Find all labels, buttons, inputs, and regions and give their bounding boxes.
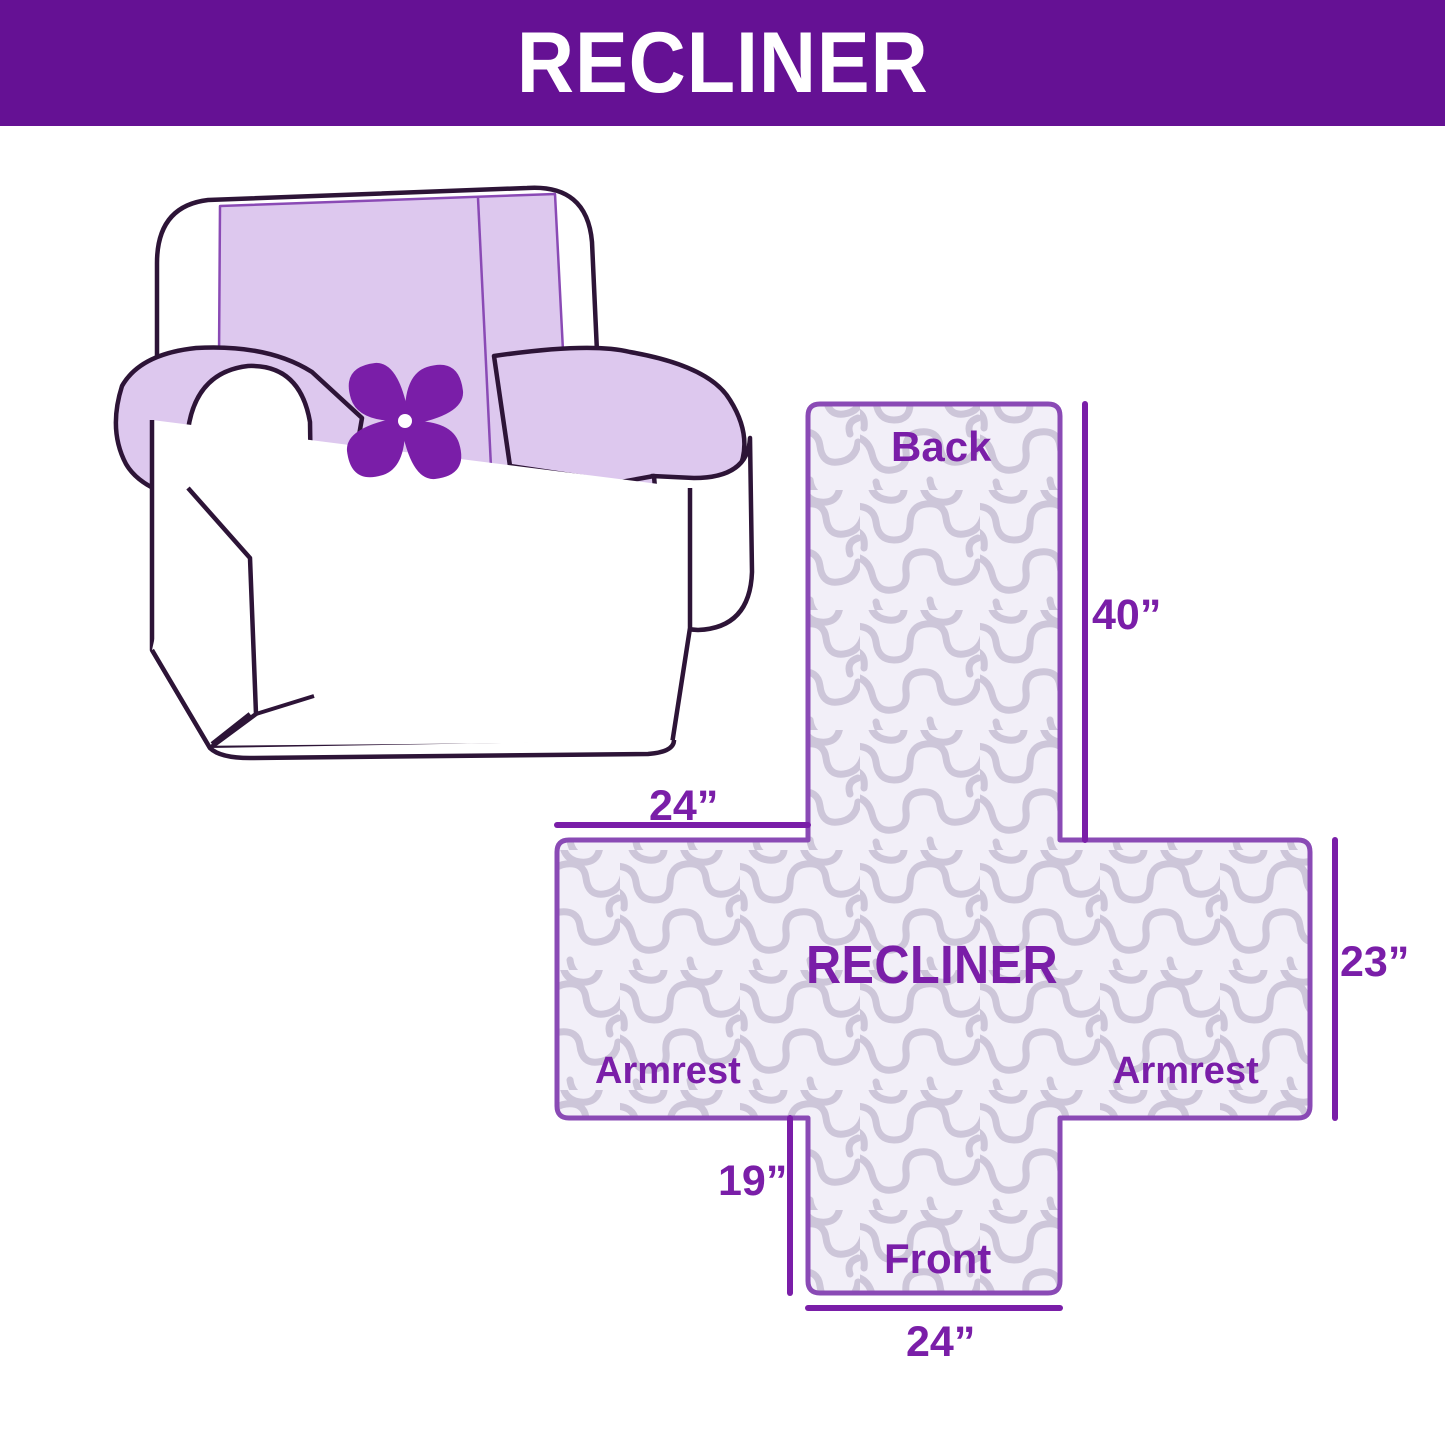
dimension-label-armrest-depth: 23” <box>1340 941 1409 984</box>
cross-cover-outline <box>557 404 1310 1293</box>
header-banner: RECLINER <box>0 0 1445 126</box>
section-label-back: Back <box>891 426 991 468</box>
section-label-front: Front <box>884 1238 991 1280</box>
diagram-center-label: RECLINER <box>806 938 1058 992</box>
section-label-armrest-left: Armrest <box>595 1052 741 1090</box>
product-dimension-infographic: RECLINER <box>0 0 1445 1445</box>
section-label-armrest-right: Armrest <box>1113 1052 1259 1090</box>
dimension-label-back-width: 24” <box>649 785 718 828</box>
dimension-label-front-width: 24” <box>906 1321 975 1364</box>
dimension-label-back-height: 40” <box>1092 594 1161 637</box>
dimension-label-front-height: 19” <box>718 1160 787 1203</box>
page-title: RECLINER <box>517 20 929 106</box>
